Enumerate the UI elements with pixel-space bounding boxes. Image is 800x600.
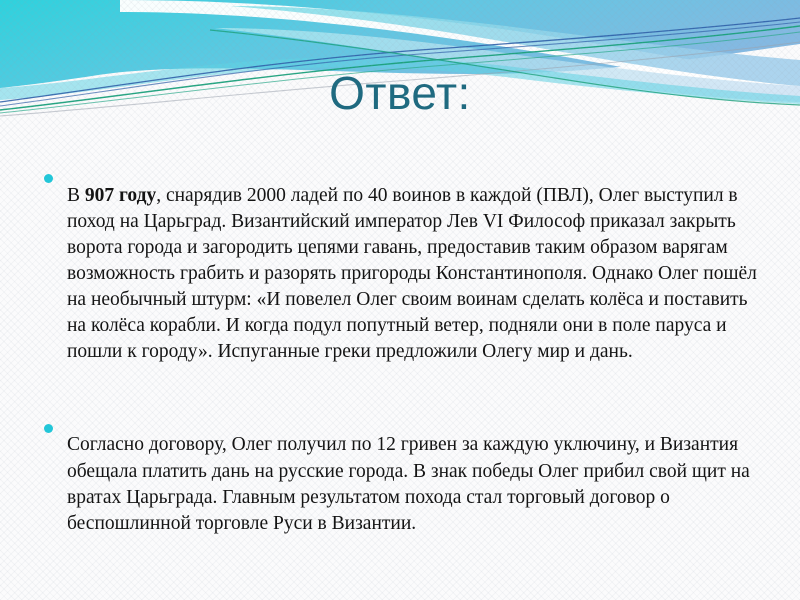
paragraph-rest: , снарядив 2000 ладей по 40 воинов в каж… [67, 185, 757, 363]
list-item: В 907 году, снарядив 2000 ладей по 40 во… [44, 163, 760, 385]
presentation-slide: Ответ: В 907 году, снарядив 2000 ладей п… [0, 0, 800, 600]
paragraph-bold: 907 году [85, 185, 156, 206]
paragraph-rest: Согласно договору, Олег получил по 12 гр… [67, 434, 750, 533]
slide-title: Ответ: [0, 68, 800, 119]
paragraph-prefix: В [67, 185, 85, 206]
slide-body: В 907 году, снарядив 2000 ладей по 40 во… [44, 163, 760, 556]
list-item: Согласно договору, Олег получил по 12 гр… [44, 413, 760, 557]
bullet-dot-icon [44, 174, 53, 183]
bullet-dot-icon [44, 424, 53, 433]
paragraph-text: В 907 году, снарядив 2000 ладей по 40 во… [67, 183, 760, 366]
paragraph-text: Согласно договору, Олег получил по 12 гр… [67, 432, 760, 537]
